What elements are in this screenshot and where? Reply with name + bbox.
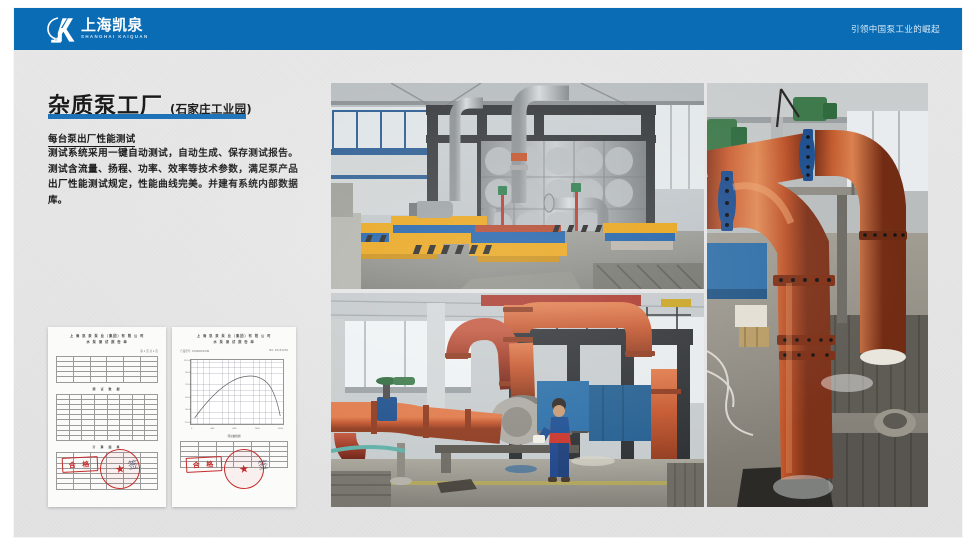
x-tick: 1200 <box>255 428 260 430</box>
logo-wordmark: 上海凯泉 SHANGHAI KAIQUAN <box>81 18 149 39</box>
doc-a-stamp-row: 合 格 签 <box>56 449 158 483</box>
presentation-slide: 上海凯泉 SHANGHAI KAIQUAN 引领中国泵工业的崛起 杂质泵工厂 (… <box>0 0 975 550</box>
qualified-stamp: 合 格 <box>62 456 99 473</box>
inspector-signature: 签 <box>257 453 286 475</box>
logo-text-en: SHANGHAI KAIQUAN <box>81 35 149 39</box>
qualified-stamp: 合 格 <box>186 456 223 473</box>
doc-b-stamp-row: 合 格 签 <box>180 449 288 483</box>
doc-a-title-line2: 水 泵 测 试 报 告 单 <box>56 340 158 346</box>
x-tick: 0 <box>191 428 192 430</box>
doc-a-measure-table <box>56 394 158 442</box>
photo-art-top <box>331 83 704 289</box>
x-tick: 400 <box>211 428 215 430</box>
header-slogan: 引领中国泵工业的崛起 <box>851 8 940 50</box>
photo-factory-test-bay-tanks <box>331 83 704 289</box>
doc-b-meta: 产品型号: KQSN200-M6 NO. 20151030 <box>180 349 288 353</box>
curve-caption: 测试曲线图 <box>180 434 288 438</box>
photo-factory-large-pump-test <box>331 293 704 507</box>
doc-b-meta-left: 产品型号: KQSN200-M6 <box>180 349 209 353</box>
doc-b-meta-right: NO. 20151030 <box>269 349 288 353</box>
document-thumbnail-test-report[interactable]: 上 海 凯 泉 泵 业（集团）有 限 公 司 水 泵 测 试 报 告 单 第 1… <box>48 327 166 507</box>
document-thumbnail-performance-curve[interactable]: 上 海 凯 泉 泵 业（集团）有 限 公 司 水 泵 测 试 报 告 单 产品型… <box>172 327 296 507</box>
inspector-signature: 签 <box>127 453 156 475</box>
doc-a-title-line1: 上 海 凯 泉 泵 业（集团）有 限 公 司 <box>56 334 158 340</box>
table-row <box>57 377 158 382</box>
y-tick: 110.00 <box>184 360 191 362</box>
kaiquan-k-mark-icon <box>46 16 76 43</box>
doc-a-section1: 测 试 数 据 <box>56 387 158 391</box>
photo-art-bottom <box>331 293 704 507</box>
x-tick: 800 <box>233 428 237 430</box>
company-logo: 上海凯泉 SHANGHAI KAIQUAN <box>46 15 149 43</box>
doc-a-header-table <box>56 356 158 383</box>
section-body-text: 测试系统采用一键自动测试，自动生成、保存测试报告。测试含流量、扬程、功率、效率等… <box>48 146 298 208</box>
logo-text-cn: 上海凯泉 <box>81 18 149 33</box>
curve-y-axis: 110.00 90.00 70.00 50.00 30.00 10.00 <box>181 360 191 424</box>
section-subheading: 每台泵出厂性能测试 <box>48 131 135 147</box>
x-tick: 1600 <box>278 428 283 430</box>
photo-orange-pipe-bends-closeup <box>707 83 928 507</box>
doc-b-title-line2: 水 泵 测 试 报 告 单 <box>180 340 288 346</box>
photo-art-right <box>707 83 928 507</box>
slide-header: 上海凯泉 SHANGHAI KAIQUAN 引领中国泵工业的崛起 <box>14 8 962 50</box>
curve-plot <box>191 360 283 424</box>
title-underline-rule <box>48 114 246 119</box>
doc-a-meta-right: 第 1 页 共 1 页 <box>140 349 158 353</box>
curve-x-axis: 0 400 800 1200 1600 <box>191 428 283 430</box>
doc-a-meta: 第 1 页 共 1 页 <box>56 349 158 353</box>
performance-curve-chart: 110.00 90.00 70.00 50.00 30.00 10.00 0 4… <box>190 359 284 425</box>
table-row <box>57 436 158 441</box>
